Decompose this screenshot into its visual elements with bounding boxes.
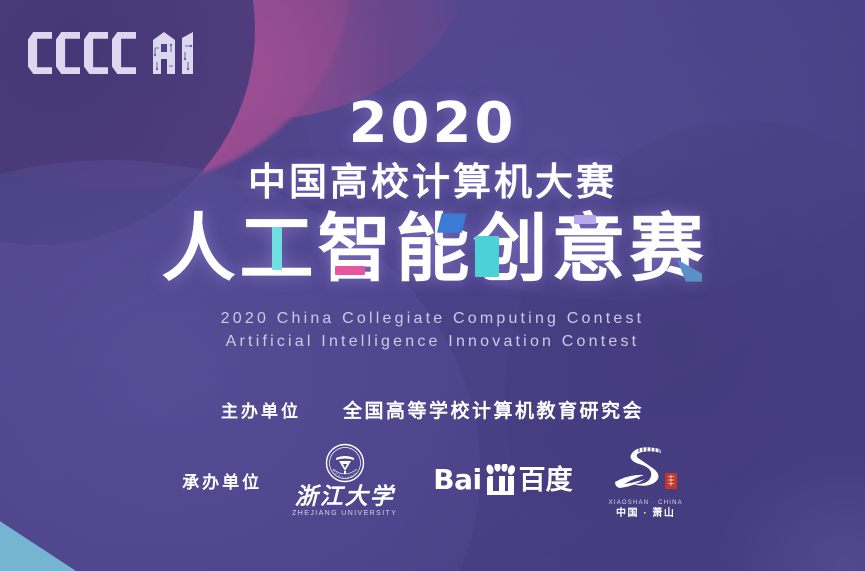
title-glyph-zhi: 智 — [318, 212, 392, 286]
organizer-row: 主办单位 全国高等学校计算机教育研究会 — [0, 396, 865, 423]
chinese-subtitle: 中国高校计算机大赛 — [0, 164, 865, 202]
zhejiang-university-logo: Z H E J I A N G 浙江大学 ZHEJIANG UNIVERSITY — [292, 443, 397, 517]
headline-block: 2020 中国高校计算机大赛 人 工 智 能 创 意 — [0, 96, 865, 353]
year-title: 2020 — [0, 96, 865, 152]
title-glyph-sai: 赛 — [630, 212, 704, 286]
english-subtitle: 2020 China Collegiate Computing Contest … — [0, 308, 865, 353]
poster-canvas: 2020 中国高校计算机大赛 人 工 智 能 创 意 — [0, 0, 865, 571]
letter-c-icon — [56, 32, 80, 74]
ai-circuit-mark-icon — [151, 32, 203, 74]
letter-c-icon — [28, 32, 52, 74]
title-glyph-ren: 人 — [162, 212, 236, 286]
credits-block: 主办单位 全国高等学校计算机教育研究会 承办单位 — [0, 396, 865, 519]
baidu-logo: Bai 百度 — [433, 464, 572, 496]
zju-seal-icon: Z H E J I A N G — [325, 443, 365, 483]
title-glyph-yi: 意 — [552, 212, 626, 286]
host-row: 承办单位 Z — [0, 441, 865, 519]
baidu-bear-paw-icon — [483, 464, 517, 496]
chinese-main-title: 人 工 智 能 创 意 赛 — [0, 212, 865, 286]
host-label: 承办单位 — [182, 468, 262, 493]
cccc-ai-logo — [28, 32, 203, 74]
xiaoshan-china-logo: XIAOSHAN · CHINA 中国 · 萧山 — [609, 441, 683, 519]
title-glyph-gong: 工 — [240, 212, 314, 286]
title-glyph-chuang: 创 — [474, 212, 548, 286]
baidu-latin-text: Bai — [433, 466, 481, 494]
english-line-1: 2020 China Collegiate Computing Contest — [0, 308, 865, 331]
english-line-2: Artificial Intelligence Innovation Conte… — [0, 331, 865, 354]
zju-chinese-name: 浙江大学 — [295, 485, 395, 508]
letter-c-icon — [84, 32, 108, 74]
zju-english-name: ZHEJIANG UNIVERSITY — [292, 510, 397, 517]
svg-text:I: I — [345, 476, 346, 480]
xiaoshan-english-text: XIAOSHAN · CHINA — [609, 500, 683, 506]
baidu-chinese-text: 百度 — [519, 467, 573, 494]
title-glyph-neng: 能 — [396, 212, 470, 286]
xiaoshan-brush-s-icon — [611, 441, 681, 497]
organizer-label: 主办单位 — [221, 397, 301, 422]
xiaoshan-chinese-text: 中国 · 萧山 — [616, 509, 675, 519]
organizer-value: 全国高等学校计算机教育研究会 — [343, 396, 644, 423]
host-logo-list: Z H E J I A N G 浙江大学 ZHEJIANG UNIVERSITY — [292, 441, 683, 519]
cccc-wordmark — [28, 32, 136, 74]
letter-c-icon — [112, 32, 136, 74]
